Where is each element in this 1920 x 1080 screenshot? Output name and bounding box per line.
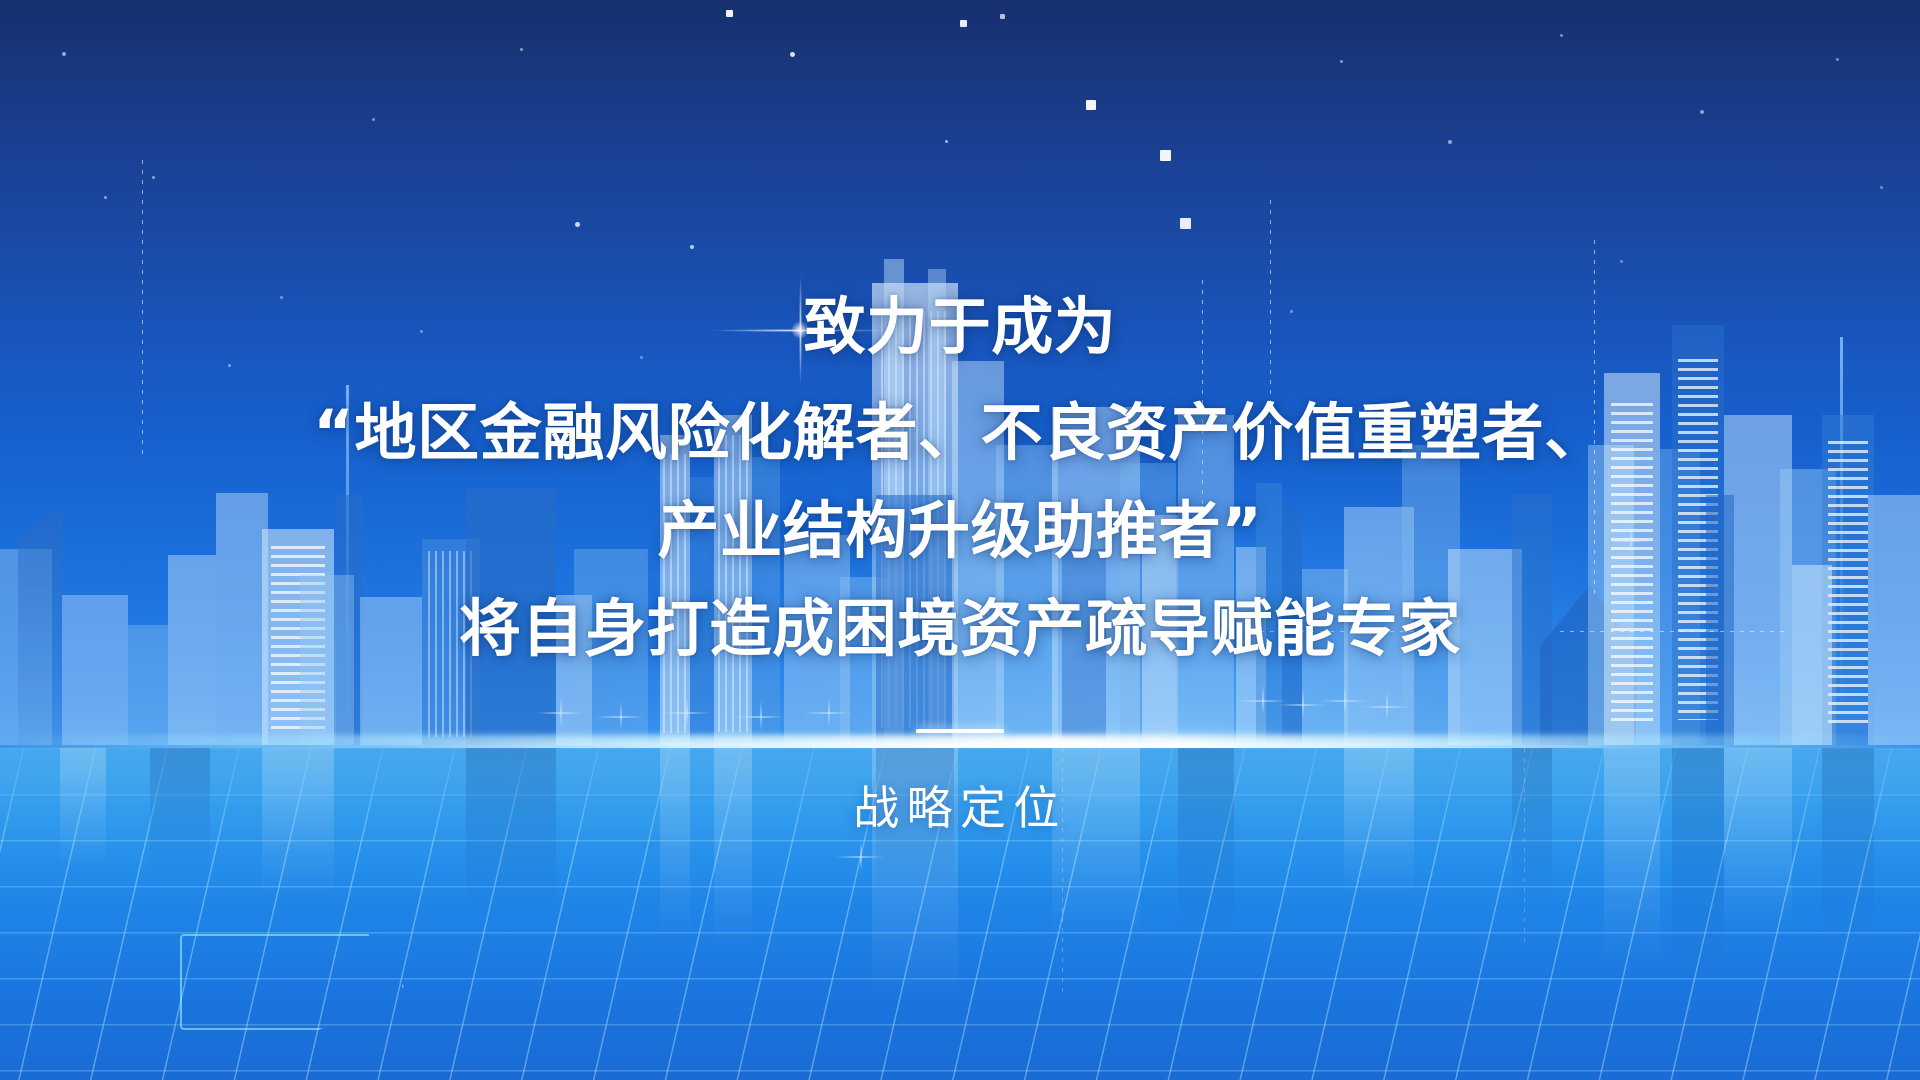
headline-line-3: 产业结构升级助推者”	[0, 480, 1920, 570]
headline-line-4: 将自身打造成困境资产疏导赋能专家	[0, 578, 1920, 668]
slide-canvas: 致力于成为 “地区金融风险化解者、不良资产价值重塑者、 产业结构升级助推者” 将…	[0, 0, 1920, 1080]
slide-subtitle: 战略定位	[0, 772, 1920, 838]
headline-line-2: “地区金融风险化解者、不良资产价值重塑者、	[0, 382, 1920, 472]
headline-line-1: 致力于成为	[0, 276, 1920, 366]
title-divider	[916, 729, 1004, 733]
slide-content: 致力于成为 “地区金融风险化解者、不良资产价值重塑者、 产业结构升级助推者” 将…	[0, 0, 1920, 1080]
